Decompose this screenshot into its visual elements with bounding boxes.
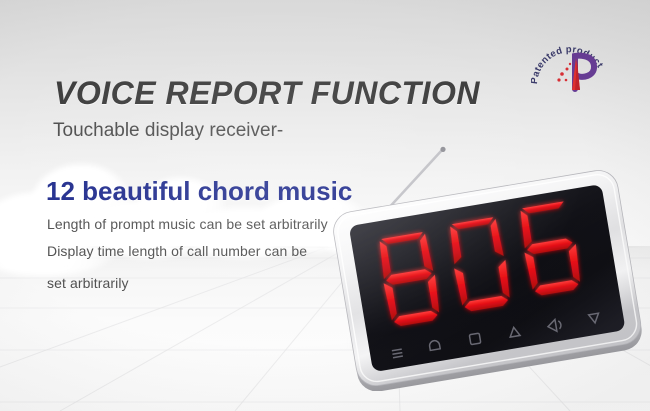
feature-bullet-1: Length of prompt music can be set arbitr… [47,216,328,232]
feature-bullet-3: set arbitrarily [47,275,129,291]
device-body[interactable] [331,168,645,391]
promo-banner: VOICE REPORT FUNCTION Touchable display … [0,0,650,411]
feature-headline: 12 beautiful chord music [46,176,352,207]
page-subtitle: Touchable display receiver- [53,120,283,142]
page-title: VOICE REPORT FUNCTION [54,75,480,112]
badge-logo-mark [557,56,594,90]
device-receiver[interactable] [322,146,650,391]
patented-product-badge: Patented product [531,34,607,100]
feature-bullet-2: Display time length of call number can b… [47,243,307,259]
